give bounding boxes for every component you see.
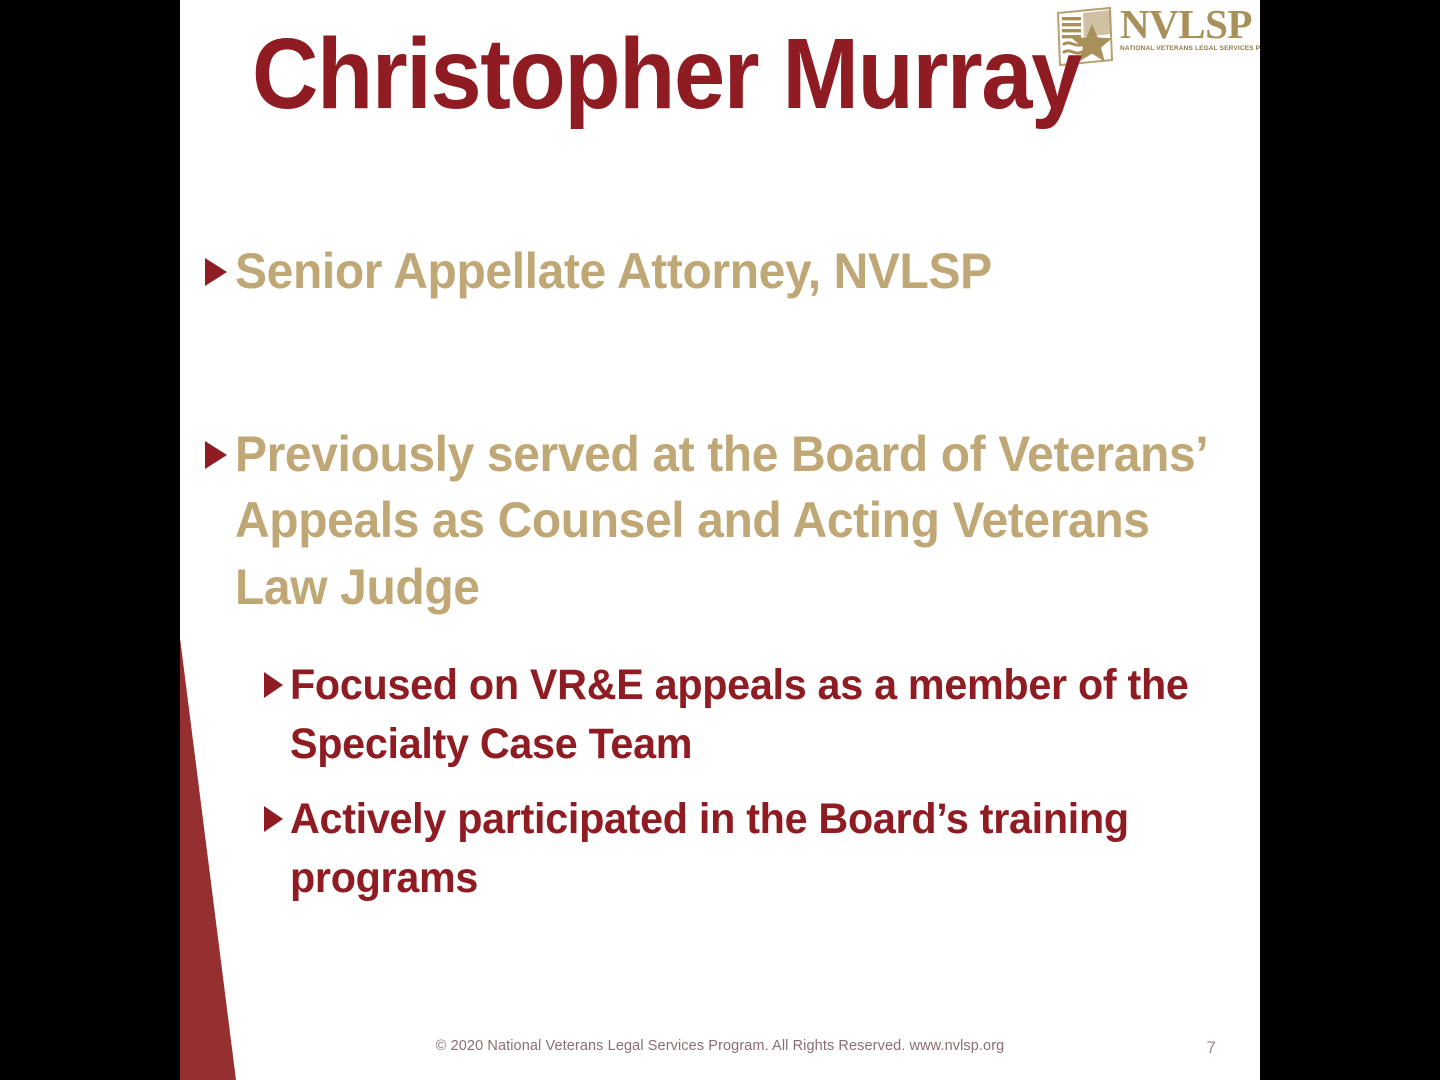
bullet-item-level2: Actively participated in the Board’s tra…: [260, 790, 1250, 908]
bullet-text-level1-2: Previously served at the Board of Vetera…: [235, 421, 1209, 621]
letterbox-bar-right: [1260, 0, 1440, 1080]
triangle-bullet-icon: [200, 255, 230, 289]
bullet-item-level1: Previously served at the Board of Vetera…: [200, 421, 1250, 621]
footer-copyright: © 2020 National Veterans Legal Services …: [180, 1038, 1260, 1054]
slide-canvas: NVLSP NATIONAL VETERANS LEGAL SERVICES P…: [180, 0, 1260, 1080]
bullet-text-level1-1: Senior Appellate Attorney, NVLSP: [235, 238, 1209, 305]
page-title: Christopher Murray: [252, 22, 1080, 126]
logo-wordmark: NVLSP: [1120, 4, 1260, 44]
bullet-text-level2-1: Focused on VR&E appeals as a member of t…: [290, 656, 1212, 774]
nvlsp-logo: NVLSP NATIONAL VETERANS LEGAL SERVICES P…: [1052, 2, 1252, 80]
bullet-spacer: [200, 305, 1250, 421]
bullet-item-level2: Focused on VR&E appeals as a member of t…: [260, 656, 1250, 774]
sub-bullet-list: Focused on VR&E appeals as a member of t…: [260, 656, 1250, 908]
page-number: 7: [1207, 1038, 1216, 1058]
triangle-bullet-icon: [260, 804, 286, 834]
logo-tagline: NATIONAL VETERANS LEGAL SERVICES PROGRAM: [1120, 45, 1260, 52]
slide-body: Senior Appellate Attorney, NVLSP Previou…: [200, 238, 1250, 924]
triangle-bullet-icon: [260, 670, 286, 700]
bullet-item-level1: Senior Appellate Attorney, NVLSP: [200, 238, 1250, 305]
letterbox-bar-left: [0, 0, 180, 1080]
triangle-bullet-icon: [200, 438, 230, 472]
logo-text-block: NVLSP NATIONAL VETERANS LEGAL SERVICES P…: [1118, 2, 1260, 52]
slide-viewport: NVLSP NATIONAL VETERANS LEGAL SERVICES P…: [0, 0, 1440, 1080]
bullet-text-level2-2: Actively participated in the Board’s tra…: [290, 790, 1212, 908]
